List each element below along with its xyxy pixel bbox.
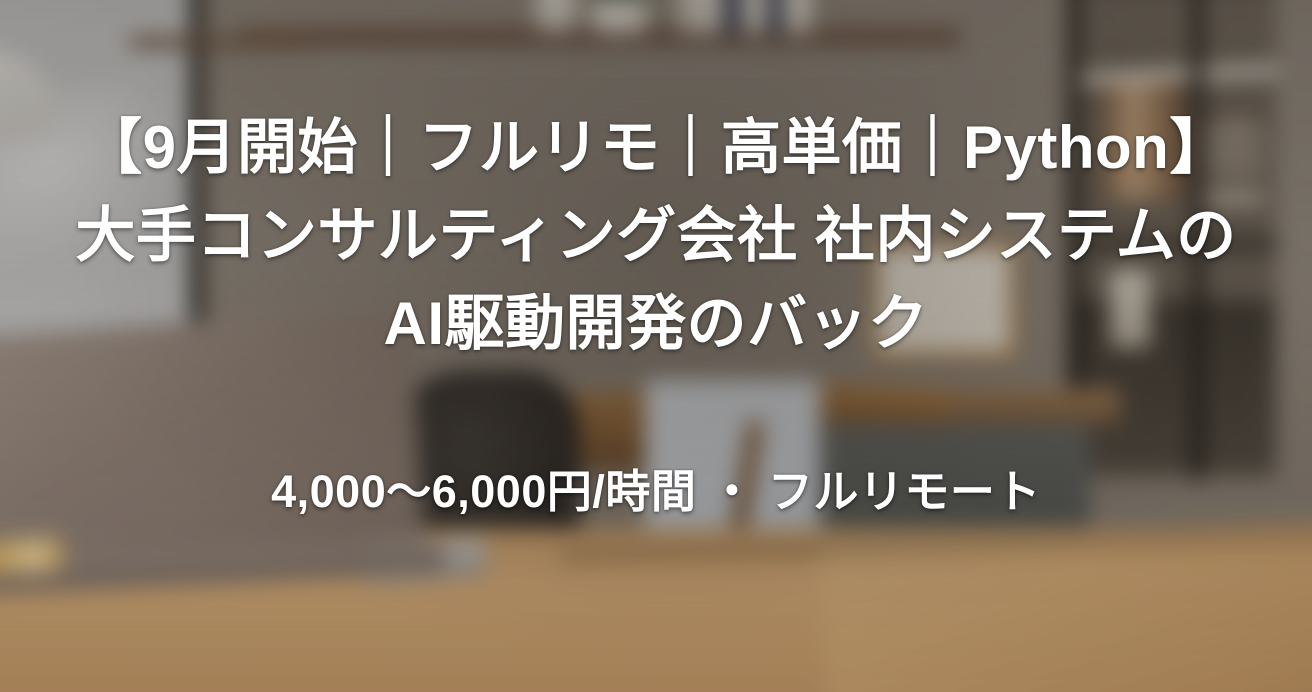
banner-subtitle: 4,000〜6,000円/時間 ・ フルリモート	[0, 464, 1312, 520]
banner-content: 【9月開始｜フルリモ｜高単価｜Python】大手コンサルティング会社 社内システ…	[0, 0, 1312, 692]
banner-title: 【9月開始｜フルリモ｜高単価｜Python】大手コンサルティング会社 社内システ…	[0, 104, 1312, 368]
job-posting-banner: 【9月開始｜フルリモ｜高単価｜Python】大手コンサルティング会社 社内システ…	[0, 0, 1312, 692]
